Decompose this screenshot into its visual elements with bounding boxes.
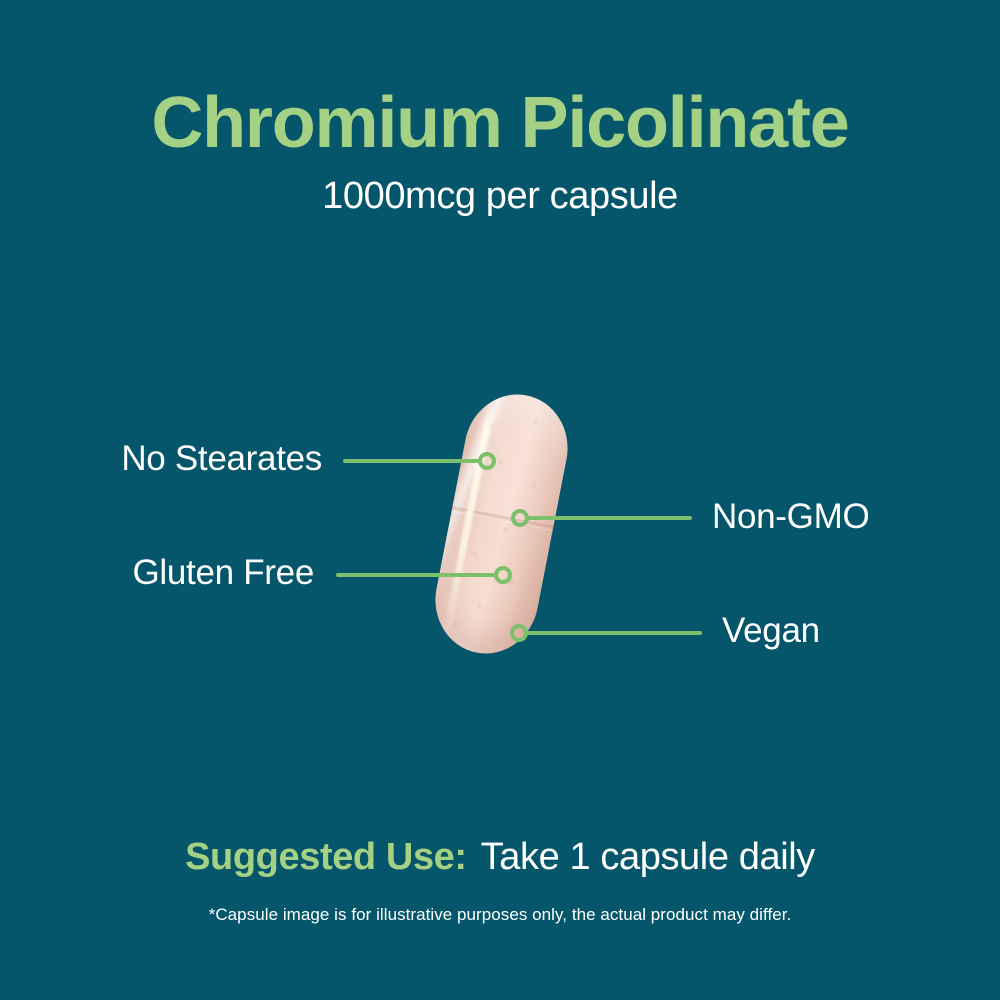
capsule-shape (426, 386, 577, 663)
callout-label-no-stearates: No Stearates (0, 441, 322, 476)
suggested-use-value: Take 1 capsule daily (481, 836, 815, 878)
header: Chromium Picolinate 1000mcg per capsule (0, 86, 1000, 217)
product-dosage: 1000mcg per capsule (0, 176, 1000, 218)
capsule-image (430, 385, 560, 675)
disclaimer-text: *Capsule image is for illustrative purpo… (0, 905, 1000, 925)
product-infographic: Chromium Picolinate 1000mcg per capsule … (0, 0, 1000, 1000)
callout-label-non-gmo: Non-GMO (712, 499, 869, 534)
callout-label-gluten-free: Gluten Free (0, 555, 314, 590)
page-title: Chromium Picolinate (0, 86, 1000, 162)
suggested-use-label: Suggested Use: (185, 836, 467, 878)
suggested-use: Suggested Use:Take 1 capsule daily (0, 836, 1000, 879)
callout-label-vegan: Vegan (722, 613, 820, 648)
